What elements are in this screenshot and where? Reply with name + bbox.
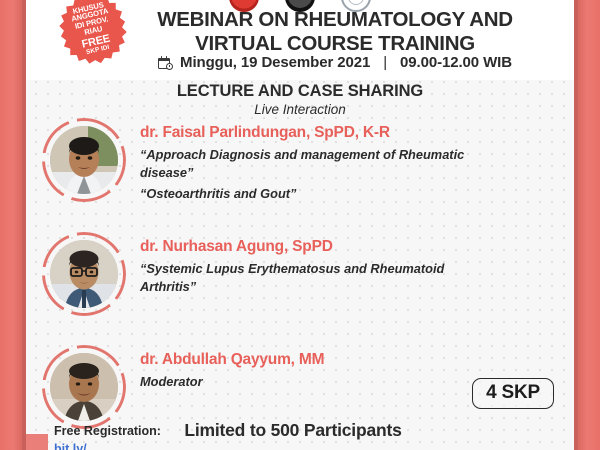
poster-page: IDI Provinsi Riau KHUSUS ANGGOTA IDI PRO…: [26, 0, 574, 450]
title-line-1: WEBINAR ON RHEUMATOLOGY AND: [106, 8, 564, 32]
event-datetime: Minggu, 19 Desember 2021 | 09.00-12.00 W…: [106, 54, 564, 71]
datetime-separator: |: [377, 54, 393, 71]
calendar-clock-icon: [158, 56, 173, 70]
participant-limit-label: Limited to 500 Participants: [26, 420, 560, 441]
event-time: 09.00-12.00 WIB: [400, 54, 512, 71]
speaker-photo-1: [50, 126, 118, 194]
webinar-poster: IDI Provinsi Riau KHUSUS ANGGOTA IDI PRO…: [0, 0, 600, 450]
speaker-details: dr. Faisal Parlindungan, SpPD, K-R “Appr…: [140, 118, 566, 203]
section-heading-sub: Live Interaction: [26, 102, 574, 117]
speaker-name: dr. Nurhasan Agung, SpPD: [140, 238, 566, 257]
registration-link[interactable]: bit.ly/: [54, 442, 87, 450]
speaker-name: dr. Abdullah Qayyum, MM: [140, 351, 566, 370]
poster-frame-right: [578, 0, 600, 450]
speaker-row: dr. Faisal Parlindungan, SpPD, K-R “Appr…: [42, 118, 566, 203]
poster-title: WEBINAR ON RHEUMATOLOGY AND VIRTUAL COUR…: [106, 8, 564, 56]
section-heading: LECTURE AND CASE SHARING Live Interactio…: [26, 82, 574, 117]
speaker-photo-2: [50, 240, 118, 308]
speaker-topic: “Approach Diagnosis and management of Rh…: [140, 146, 470, 182]
avatar: [42, 345, 126, 429]
title-line-2: VIRTUAL COURSE TRAINING: [106, 32, 564, 56]
poster-frame-shadow-right: [574, 0, 578, 450]
section-heading-main: LECTURE AND CASE SHARING: [26, 82, 574, 101]
speaker-photo-3: [50, 353, 118, 421]
skp-credit-badge: 4 SKP: [472, 378, 554, 409]
speaker-row: dr. Nurhasan Agung, SpPD “Systemic Lupus…: [42, 232, 566, 316]
speaker-details: dr. Nurhasan Agung, SpPD “Systemic Lupus…: [140, 232, 566, 296]
speaker-name: dr. Faisal Parlindungan, SpPD, K-R: [140, 124, 566, 143]
speaker-topic: “Osteoarthritis and Gout”: [140, 185, 470, 203]
speaker-role: Moderator: [140, 373, 470, 391]
speaker-topic: “Systemic Lupus Erythematosus and Rheuma…: [140, 260, 470, 296]
event-date: Minggu, 19 Desember 2021: [180, 54, 370, 71]
avatar: [42, 118, 126, 202]
avatar: [42, 232, 126, 316]
poster-frame-left: [0, 0, 22, 450]
